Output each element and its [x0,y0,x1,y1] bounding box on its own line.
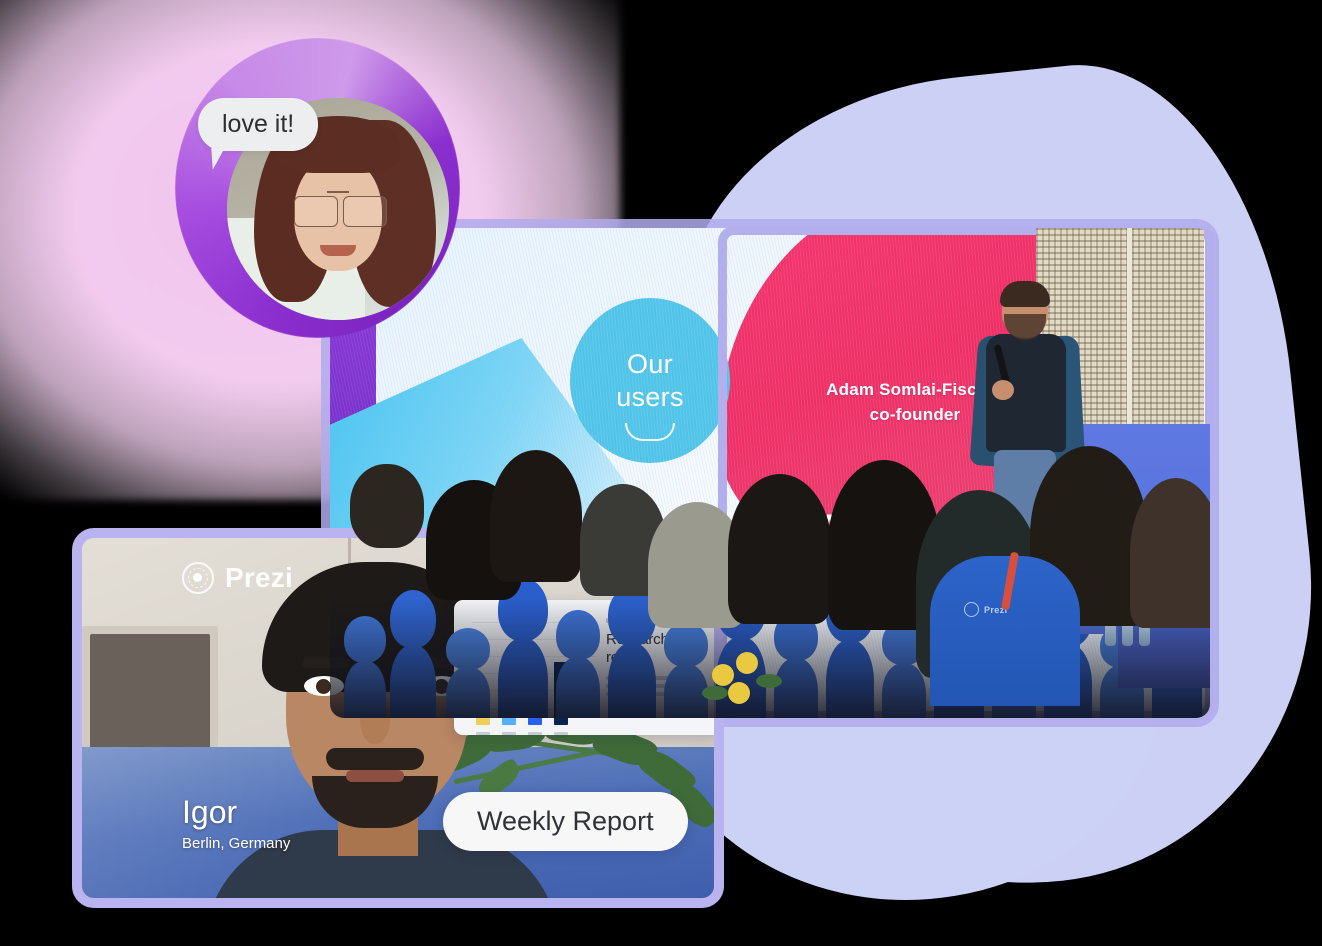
chart-x-ticks [476,732,592,735]
flower-arrangement [702,640,792,710]
conference-video-panel[interactable]: Our users Adam Somlai-Fischer co-founder… [330,228,1210,718]
weekly-report-chip[interactable]: Weekly Report [443,792,688,851]
reaction-avatar[interactable] [175,38,460,338]
prezi-seal-icon [182,562,214,594]
prezi-brand-watermark: Prezi [182,562,293,594]
prezi-seal-icon [964,602,979,617]
participant-location: Berlin, Germany [182,835,290,852]
composition-canvas: Our users Adam Somlai-Fischer co-founder… [0,0,1322,946]
reaction-speech-bubble: love it! [198,98,318,151]
glasses-icon [294,196,387,225]
prezi-tshirt-attendee: Prezi [930,556,1080,706]
seated-audience: Prezi [330,228,1210,718]
participant-name: Igor [182,796,290,830]
participant-nameplate: Igor Berlin, Germany [182,796,290,852]
prezi-brand-text: Prezi [225,562,293,594]
